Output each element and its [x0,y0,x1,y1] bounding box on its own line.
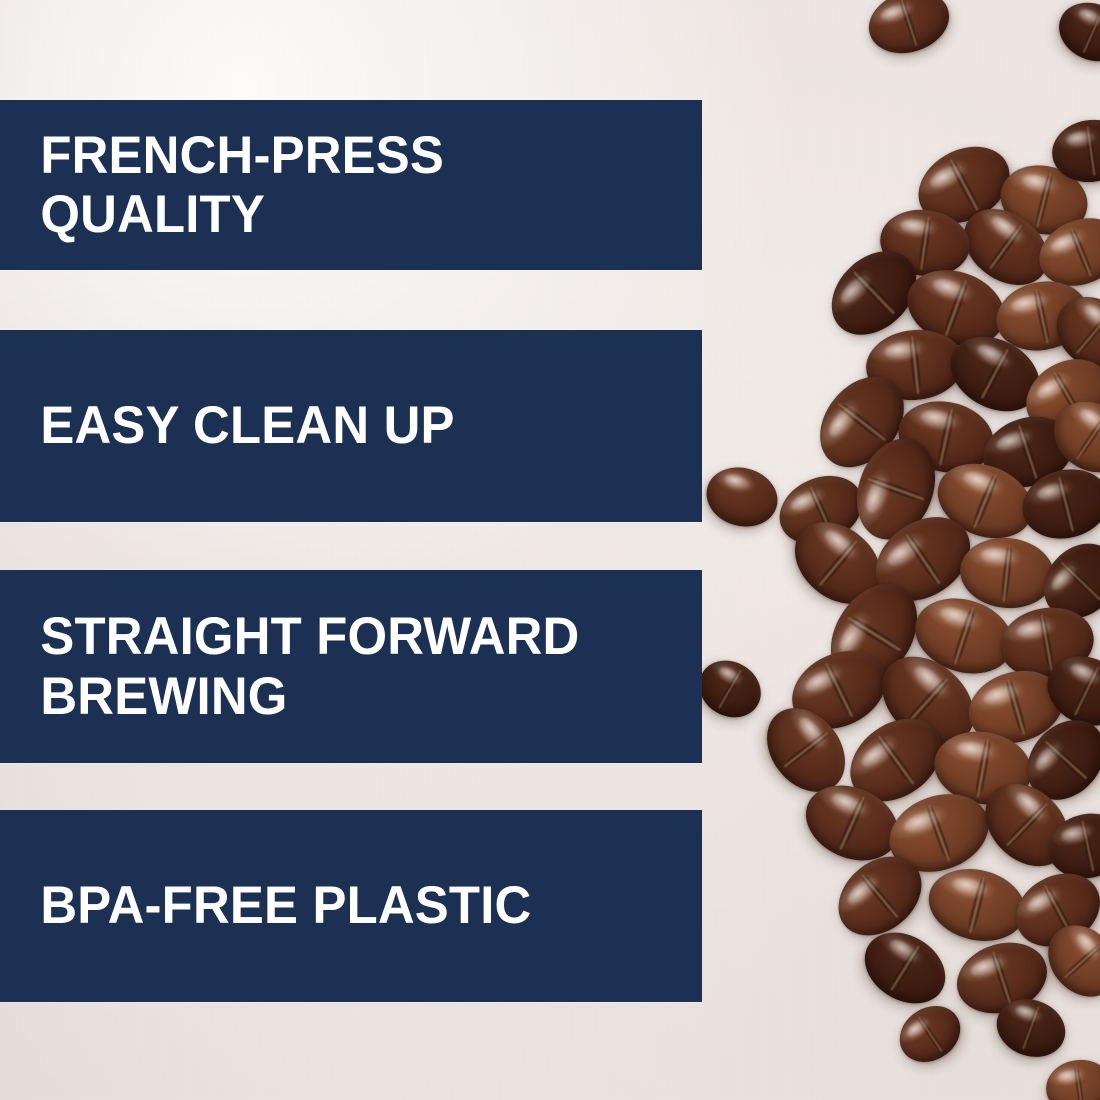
product-feature-image: FRENCH-PRESS QUALITY EASY CLEAN UP STRAI… [0,0,1100,1100]
feature-banner-label: BPA-FREE PLASTIC [0,876,555,935]
feature-banner-french-press-quality: FRENCH-PRESS QUALITY [0,100,702,270]
feature-banner-label: STRAIGHT FORWARD BREWING [0,607,603,726]
feature-banner-bpa-free-plastic: BPA-FREE PLASTIC [0,810,702,1002]
feature-banner-straight-forward-brewing: STRAIGHT FORWARD BREWING [0,570,702,763]
feature-banner-label: EASY CLEAN UP [0,396,478,455]
feature-banner-easy-clean-up: EASY CLEAN UP [0,330,702,522]
feature-banner-label: FRENCH-PRESS QUALITY [0,126,467,245]
